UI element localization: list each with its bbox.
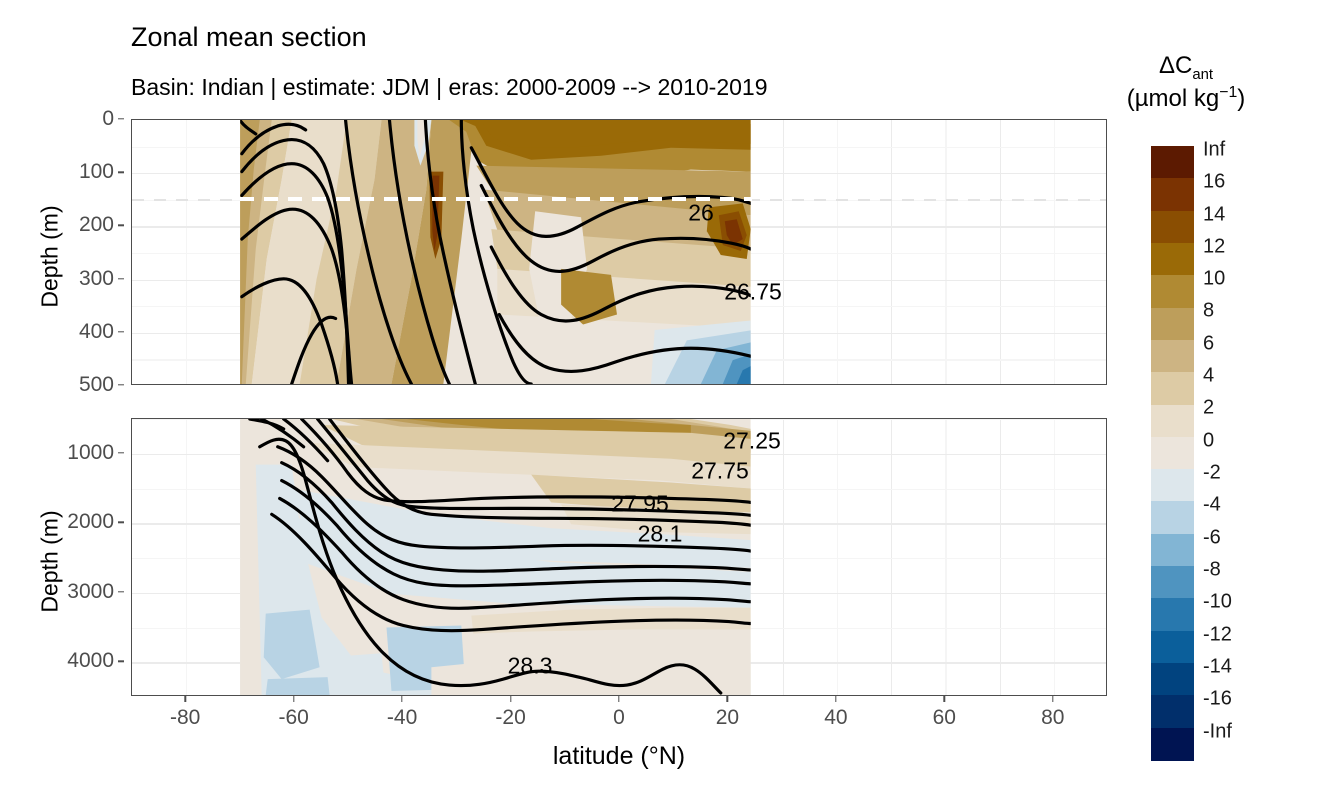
y-tick-mark: [118, 225, 124, 226]
contour-label: 28.1: [638, 521, 683, 548]
lower-contour-field: [132, 419, 1106, 695]
colorbar-band: [1151, 372, 1194, 405]
x-tick-label: -40: [387, 706, 417, 730]
x-tick-mark: [835, 696, 836, 702]
y-tick-label: 500: [79, 373, 114, 397]
page-subtitle: Basin: Indian | estimate: JDM | eras: 20…: [131, 74, 768, 101]
lower-depth-panel: 27.25 27.75 27.95 28.1 28.3: [131, 418, 1107, 696]
colorbar-tick-label: -Inf: [1203, 720, 1232, 743]
colorbar-band: [1151, 469, 1194, 502]
y-tick-mark: [118, 452, 124, 453]
y-tick-label: 400: [79, 320, 114, 344]
colorbar-band: [1151, 146, 1194, 179]
colorbar-band: [1151, 728, 1194, 761]
y-tick-label: 2000: [67, 510, 114, 534]
colorbar-tick-label: 6: [1203, 332, 1214, 355]
colorbar-band: [1151, 631, 1194, 664]
colorbar-band: [1151, 243, 1194, 276]
upper-plot-surface: 26 26.75: [132, 120, 1106, 384]
x-tick-label: 60: [933, 706, 956, 730]
contour-label: 27.75: [691, 458, 749, 485]
colorbar-tick-label: 14: [1203, 203, 1225, 226]
colorbar-band: [1151, 340, 1194, 373]
colorbar-band: [1151, 211, 1194, 244]
y-tick-mark: [118, 661, 124, 662]
colorbar-tick-label: -14: [1203, 655, 1232, 678]
x-tick-label: 80: [1041, 706, 1064, 730]
colorbar-tick-label: -8: [1203, 558, 1221, 581]
colorbar-tick-label: 2: [1203, 397, 1214, 420]
page-title: Zonal mean section: [131, 22, 367, 53]
legend-title-main: ΔC: [1159, 52, 1192, 79]
y-tick-label: 3000: [67, 580, 114, 604]
legend-unit-close: ): [1237, 85, 1245, 112]
colorbar-band: [1151, 695, 1194, 728]
upper-y-axis-label: Depth (m): [37, 167, 64, 347]
contour-label: 28.3: [508, 653, 553, 680]
x-tick-mark: [184, 696, 185, 702]
upper-depth-panel: 26 26.75: [131, 119, 1107, 385]
colorbar-tick-label: 12: [1203, 235, 1225, 258]
colorbar-band: [1151, 663, 1194, 696]
colorbar-tick-label: 16: [1203, 171, 1225, 194]
y-tick-mark: [118, 278, 124, 279]
contour-label: 26.75: [724, 279, 782, 306]
colorbar-tick-label: 4: [1203, 365, 1214, 388]
colorbar-band: [1151, 275, 1194, 308]
contour-label: 27.95: [611, 491, 669, 518]
colorbar-band: [1151, 534, 1194, 567]
x-tick-mark: [944, 696, 945, 702]
y-tick-mark: [118, 171, 124, 172]
x-tick-mark: [510, 696, 511, 702]
x-tick-label: 40: [824, 706, 847, 730]
x-tick-label: -20: [495, 706, 525, 730]
x-tick-label: 0: [613, 706, 625, 730]
colorbar-tick-label: -12: [1203, 623, 1232, 646]
colorbar-band: [1151, 178, 1194, 211]
lower-y-axis-label: Depth (m): [37, 472, 64, 652]
upper-contour-field: [132, 120, 1106, 384]
x-axis: -80 -60 -40 -20 0 20 40 60 80: [131, 696, 1107, 736]
colorbar-tick-label: -2: [1203, 462, 1221, 485]
legend-unit: (µmol kg−1): [1127, 84, 1246, 113]
legend-unit-open: (µmol kg: [1127, 85, 1220, 112]
colorbar[interactable]: [1151, 146, 1194, 760]
x-tick-mark: [727, 696, 728, 702]
x-tick-mark: [293, 696, 294, 702]
y-tick-label: 0: [102, 107, 114, 131]
y-tick-mark: [118, 522, 124, 523]
colorbar-tick-label: 10: [1203, 268, 1225, 291]
x-tick-label: -60: [279, 706, 309, 730]
legend-title: ΔCant: [1159, 52, 1213, 83]
colorbar-band: [1151, 566, 1194, 599]
lower-plot-surface: 27.25 27.75 27.95 28.1 28.3: [132, 419, 1106, 695]
y-tick-mark: [118, 118, 124, 119]
legend-unit-exponent: −1: [1219, 84, 1237, 101]
y-tick-mark: [118, 384, 124, 385]
colorbar-band: [1151, 598, 1194, 631]
y-tick-label: 200: [79, 213, 114, 237]
y-tick-label: 4000: [67, 649, 114, 673]
colorbar-band: [1151, 437, 1194, 470]
legend-title-subscript: ant: [1192, 67, 1213, 83]
colorbar-tick-label: -6: [1203, 526, 1221, 549]
y-tick-label: 300: [79, 267, 114, 291]
x-tick-mark: [401, 696, 402, 702]
colorbar-tick-label: 0: [1203, 429, 1214, 452]
y-tick-mark: [118, 591, 124, 592]
x-tick-label: -80: [170, 706, 200, 730]
contour-label: 27.25: [723, 428, 781, 455]
y-tick-mark: [118, 331, 124, 332]
contour-label: 26: [688, 200, 714, 227]
y-tick-label: 1000: [67, 441, 114, 465]
colorbar-tick-label: -16: [1203, 688, 1232, 711]
y-tick-label: 100: [79, 160, 114, 184]
x-tick-label: 20: [716, 706, 739, 730]
colorbar-tick-label: -4: [1203, 494, 1221, 517]
reference-depth-line: [240, 197, 752, 201]
x-tick-mark: [1052, 696, 1053, 702]
colorbar-tick-label: 8: [1203, 300, 1214, 323]
colorbar-band: [1151, 405, 1194, 438]
colorbar-band: [1151, 308, 1194, 341]
colorbar-band: [1151, 501, 1194, 534]
colorbar-tick-label: Inf: [1203, 138, 1225, 161]
x-axis-label: latitude (°N): [131, 742, 1107, 771]
colorbar-tick-label: -10: [1203, 591, 1232, 614]
x-tick-mark: [618, 696, 619, 702]
